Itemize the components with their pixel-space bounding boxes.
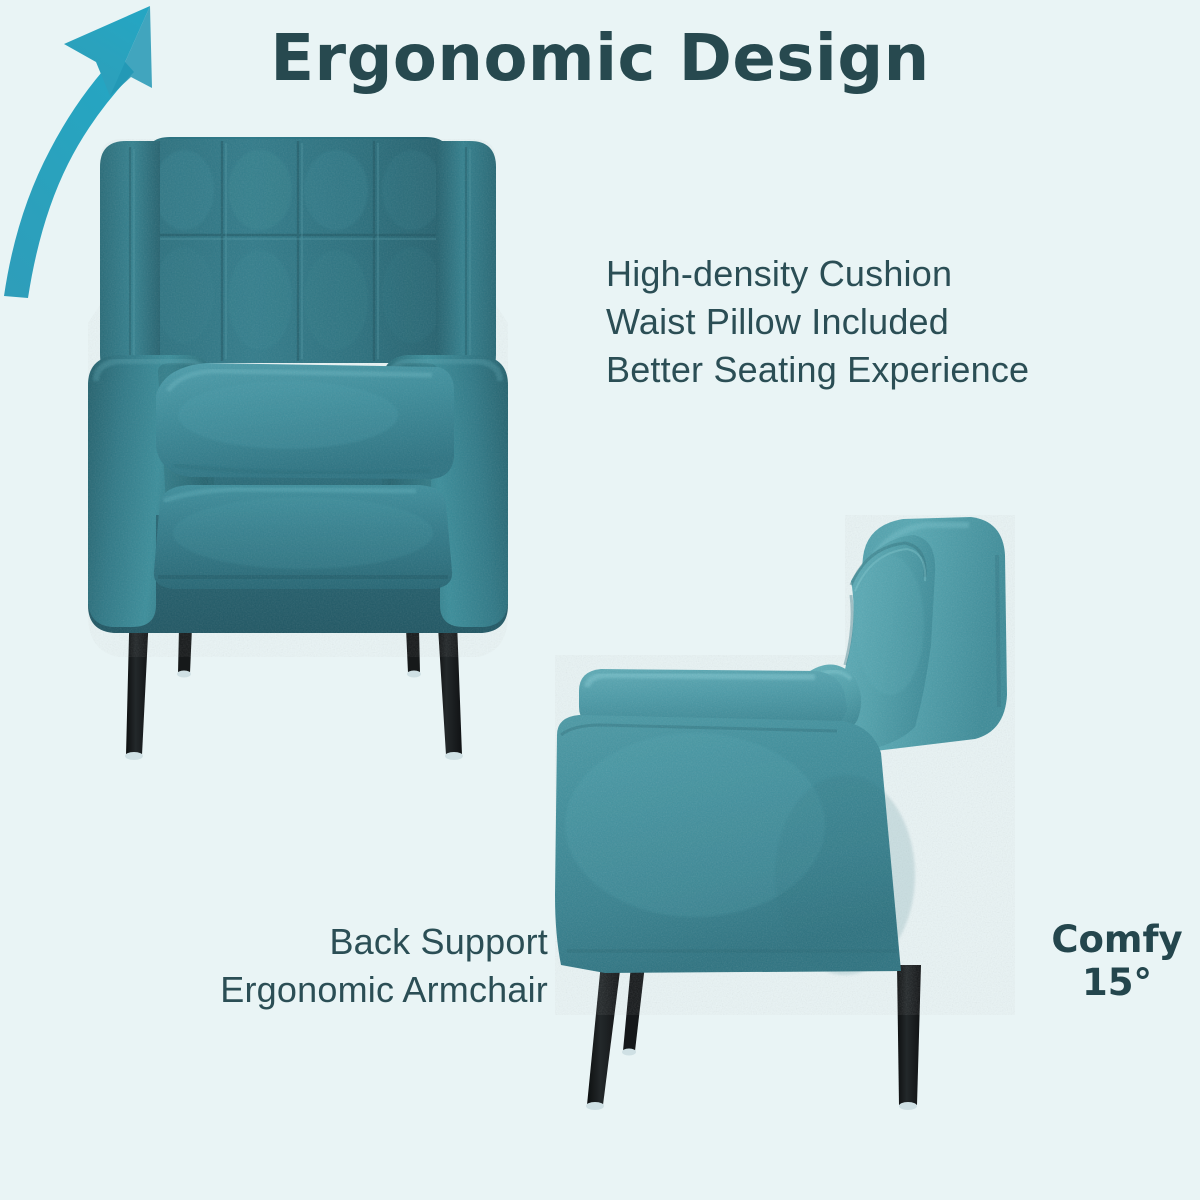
page-title: Ergonomic Design (0, 26, 1200, 93)
comfy-angle-label: Comfy 15° (1042, 918, 1192, 1005)
armchair-side-view-image (545, 495, 1105, 1185)
support-line-2: Ergonomic Armchair (100, 966, 548, 1014)
comfy-angle-value: 15° (1042, 961, 1192, 1004)
comfy-label: Comfy (1042, 918, 1192, 961)
support-line-1: Back Support (100, 918, 548, 966)
front-chair-fabric-texture (38, 95, 558, 795)
feature-line-1: High-density Cushion (606, 250, 1029, 298)
side-chair-fabric-texture (545, 495, 1105, 1185)
support-text-block: Back Support Ergonomic Armchair (100, 918, 548, 1014)
infographic-canvas: Ergonomic Design (0, 0, 1200, 1200)
feature-line-3: Better Seating Experience (606, 346, 1029, 394)
feature-line-2: Waist Pillow Included (606, 298, 1029, 346)
armchair-front-view-image (38, 95, 558, 795)
feature-text-block: High-density Cushion Waist Pillow Includ… (606, 250, 1029, 394)
